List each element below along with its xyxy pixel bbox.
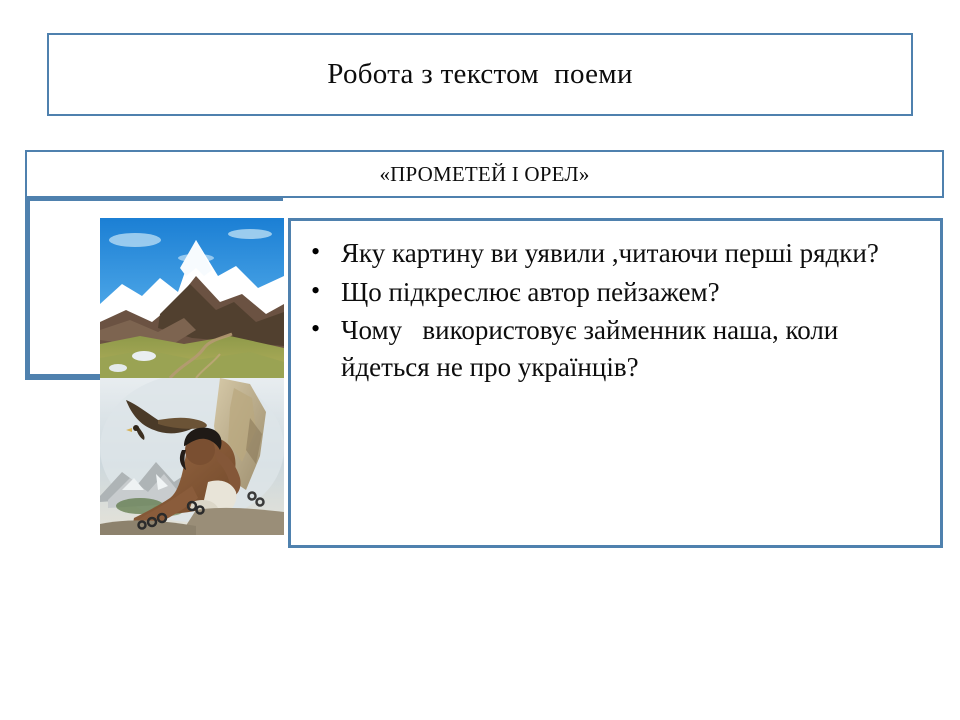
questions-box: Яку картину ви уявили ,читаючи перші ряд… [288, 218, 943, 548]
subtitle-box: «ПРОМЕТЕЙ І ОРЕЛ» [25, 150, 944, 198]
page-title: Робота з текстом поеми [327, 59, 633, 91]
poem-subtitle: «ПРОМЕТЕЙ І ОРЕЛ» [379, 162, 589, 187]
question-item-2: Що підкреслює автор пейзажем? [305, 274, 928, 311]
slide-canvas: Робота з текстом поеми «ПРОМЕТЕЙ І ОРЕЛ» [0, 0, 960, 720]
title-box: Робота з текстом поеми [47, 33, 913, 116]
mountain-landscape-photo [100, 218, 284, 378]
prometheus-eagle-illustration [100, 378, 284, 535]
question-item-1: Яку картину ви уявили ,читаючи перші ряд… [305, 235, 928, 272]
questions-list: Яку картину ви уявили ,читаючи перші ряд… [291, 221, 940, 386]
question-item-3: Чому використовує займенник наша, коли й… [305, 312, 928, 385]
